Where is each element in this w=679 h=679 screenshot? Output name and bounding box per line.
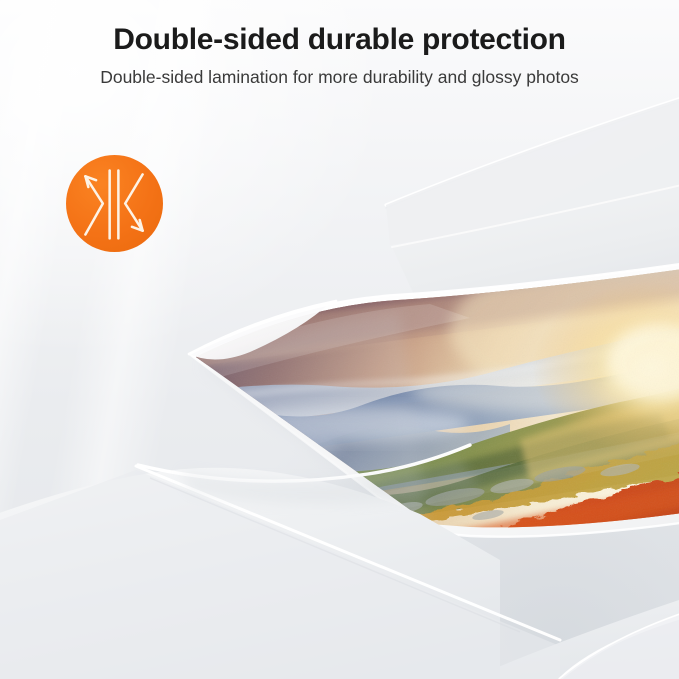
page-title: Double-sided durable protection: [0, 22, 679, 57]
product-feature-graphic: Double-sided durable protection Double-s…: [0, 0, 679, 679]
header-block: Double-sided durable protection Double-s…: [0, 22, 679, 88]
sheet-bottom-right-edge: [560, 608, 679, 679]
double-sided-lamination-icon: [66, 155, 163, 252]
foreground-sheets-layer: [0, 0, 679, 679]
double-sided-lamination-badge: [66, 155, 163, 252]
sheet-lower-blank-pouch: [0, 445, 560, 679]
page-subtitle: Double-sided lamination for more durabil…: [0, 67, 679, 88]
